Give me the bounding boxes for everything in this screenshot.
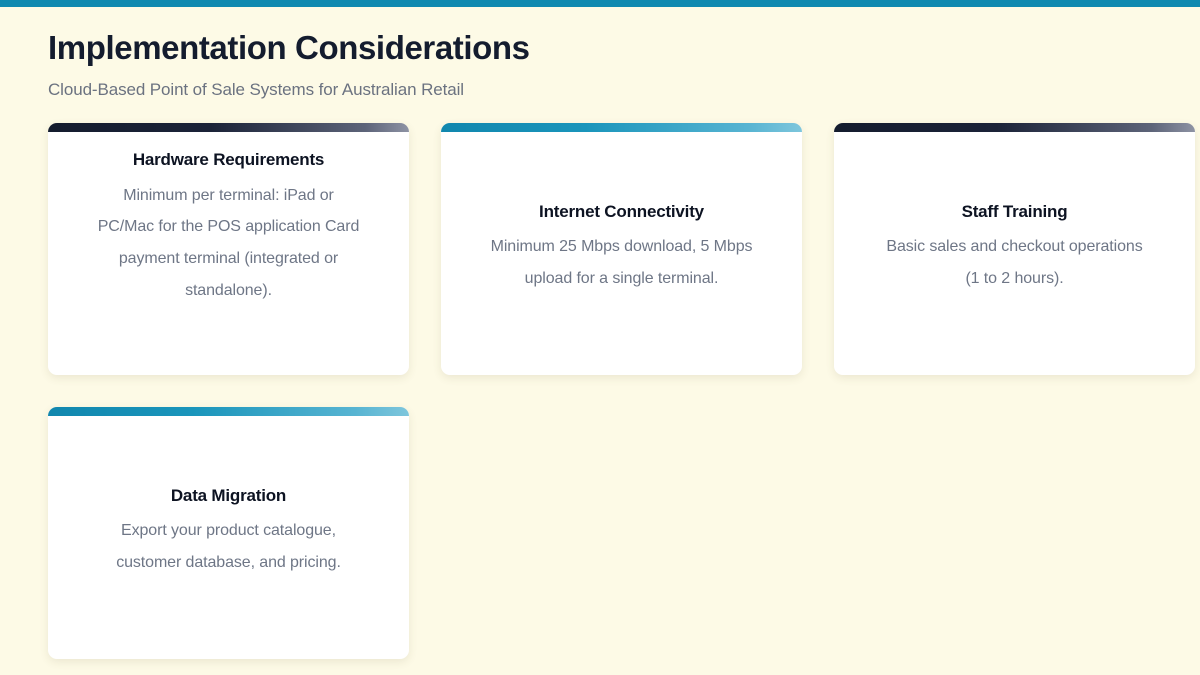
card-body: Hardware Requirements Minimum per termin… [48,132,409,375]
card-body: Data Migration Export your product catal… [48,416,409,659]
card-description: Minimum 25 Mbps download, 5 Mbps upload … [487,231,757,295]
card-body: Staff Training Basic sales and checkout … [834,132,1195,375]
card-title: Hardware Requirements [133,149,324,170]
card-accent-bar [834,123,1195,132]
card-title: Data Migration [171,485,286,506]
page-container: Implementation Considerations Cloud-Base… [0,7,1200,675]
card-title: Internet Connectivity [539,201,704,222]
card-accent-bar [48,407,409,416]
page-top-accent-bar [0,0,1200,7]
card-description: Export your product catalogue, customer … [94,515,364,579]
consideration-card[interactable]: Staff Training Basic sales and checkout … [834,123,1195,375]
page-title: Implementation Considerations [48,29,1200,67]
page-subtitle: Cloud-Based Point of Sale Systems for Au… [48,80,1200,100]
consideration-card[interactable]: Hardware Requirements Minimum per termin… [48,123,409,375]
card-title: Staff Training [962,201,1068,222]
consideration-card[interactable]: Data Migration Export your product catal… [48,407,409,659]
card-body: Internet Connectivity Minimum 25 Mbps do… [441,132,802,375]
card-accent-bar [48,123,409,132]
card-description: Minimum per terminal: iPad or PC/Mac for… [94,180,364,307]
consideration-card-grid: Hardware Requirements Minimum per termin… [48,123,1200,659]
consideration-card[interactable]: Internet Connectivity Minimum 25 Mbps do… [441,123,802,375]
card-accent-bar [441,123,802,132]
card-description: Basic sales and checkout operations (1 t… [880,231,1150,295]
